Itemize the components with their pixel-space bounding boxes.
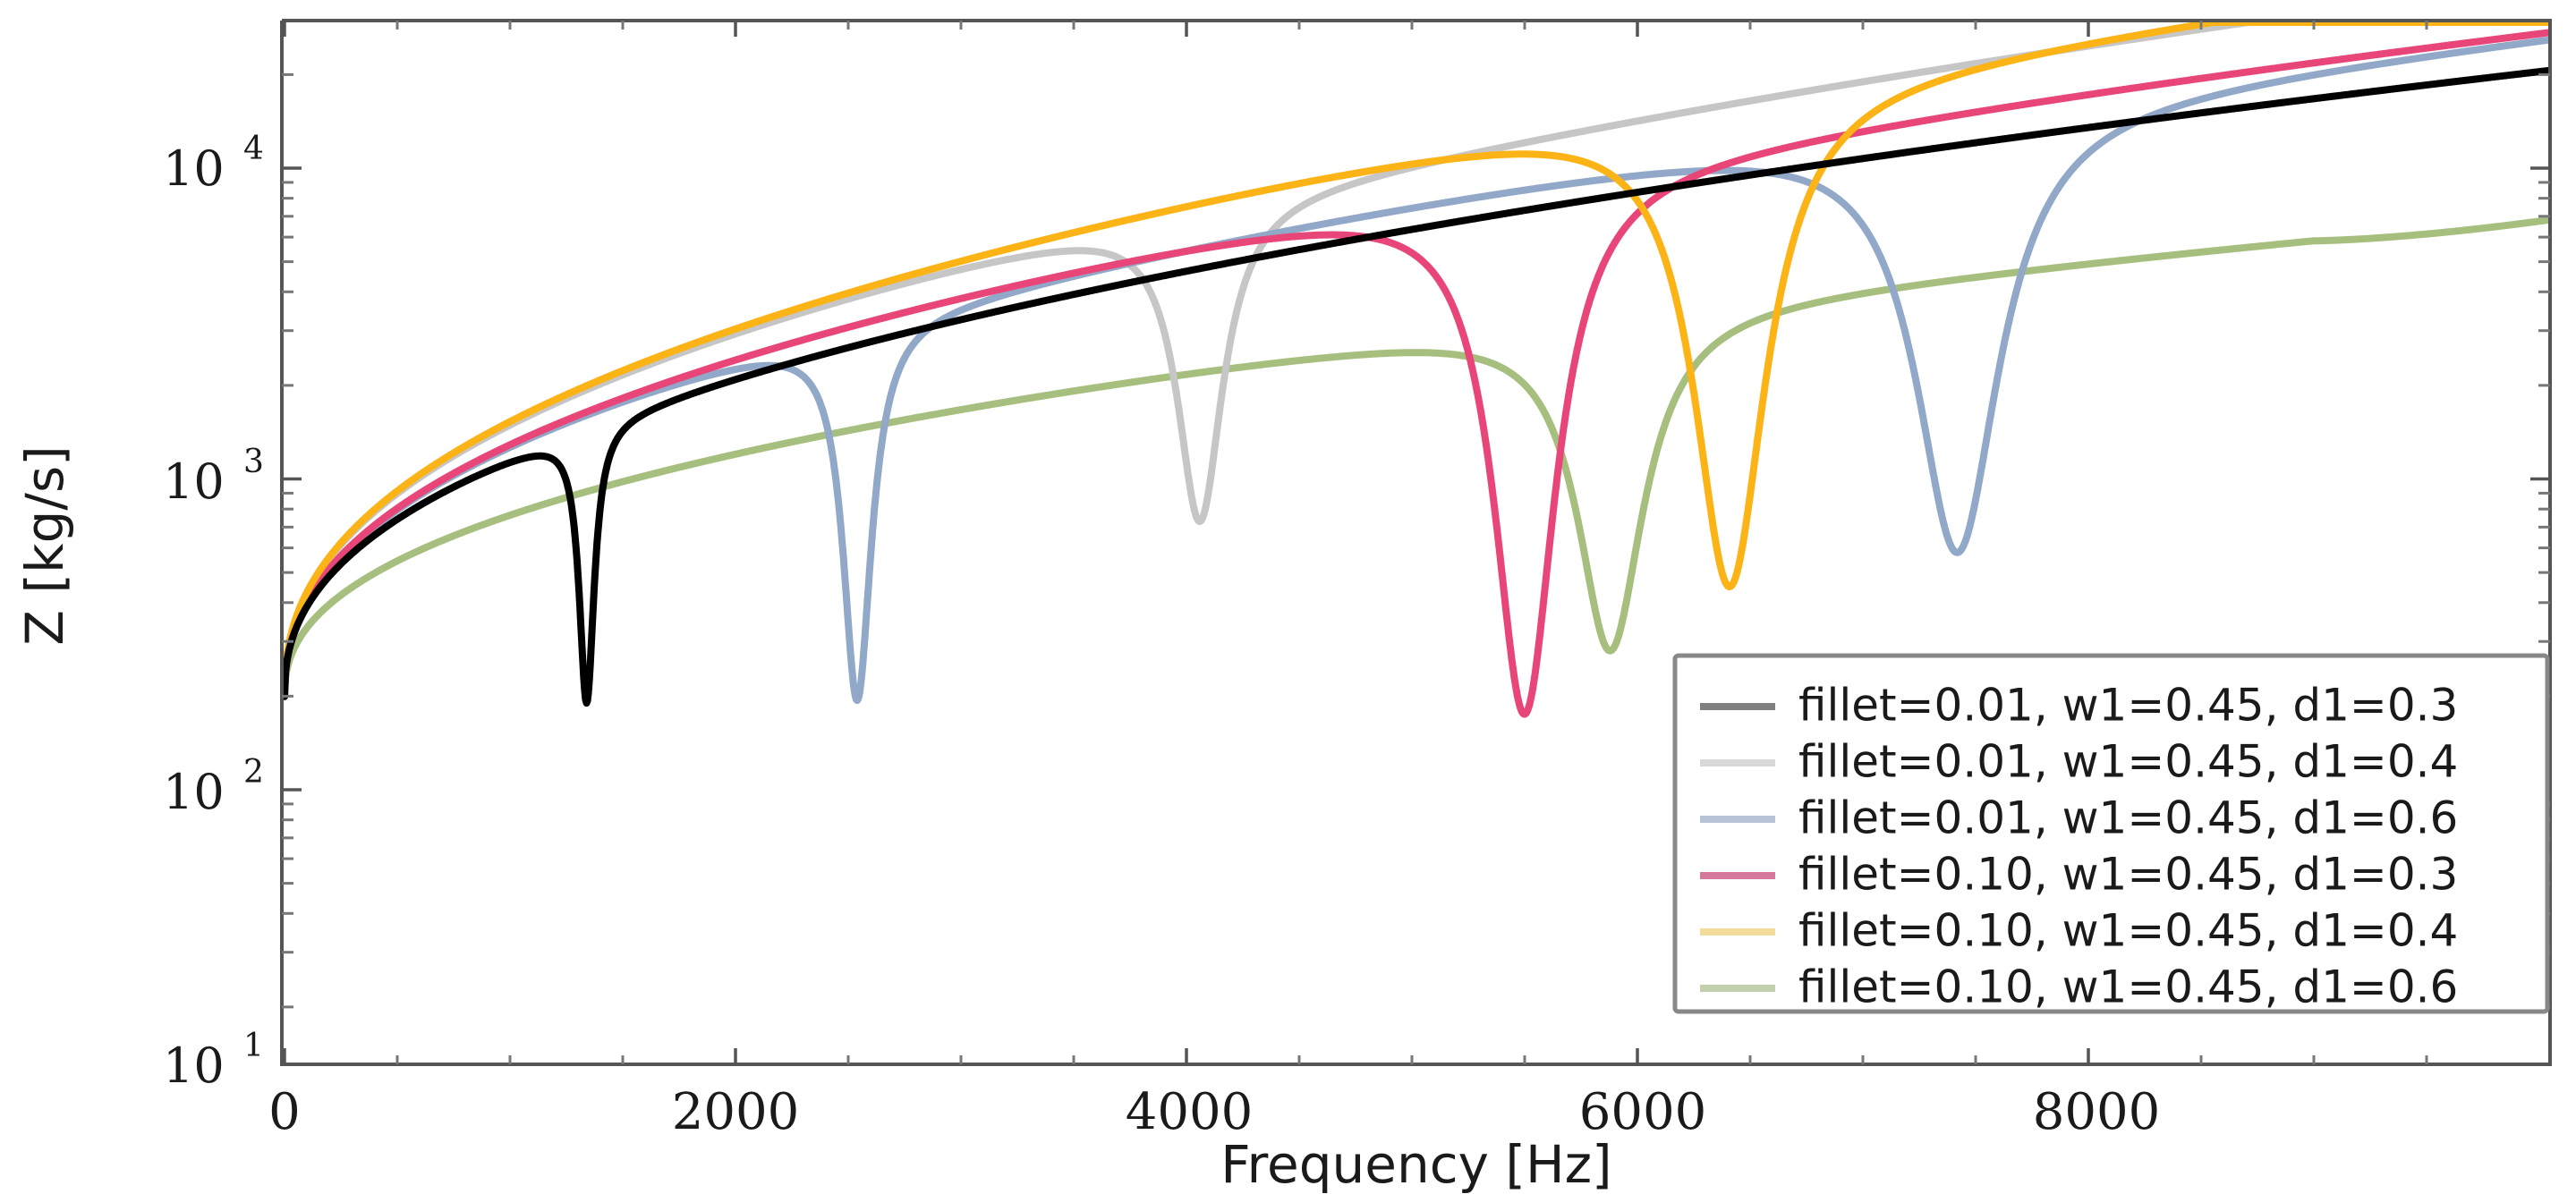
svg-text:4: 4 xyxy=(243,131,264,167)
x-tick-label-2000: 2000 xyxy=(672,1083,800,1141)
svg-text:10: 10 xyxy=(163,1037,225,1094)
svg-text:1: 1 xyxy=(243,1028,264,1064)
x-tick-label-4000: 4000 xyxy=(1126,1083,1254,1141)
legend-label-0: fillet=0.01, w1=0.45, d1=0.3 xyxy=(1798,680,2458,732)
x-tick-label-0: 0 xyxy=(268,1083,301,1141)
y-tick-labels: 10 4 10 3 10 2 10 1 xyxy=(163,131,264,1094)
legend-label-2: fillet=0.01, w1=0.45, d1=0.6 xyxy=(1798,792,2458,844)
svg-text:10: 10 xyxy=(163,764,225,820)
chart-figure: 10 4 10 3 10 2 10 1 0 2000 4000 6000 800… xyxy=(0,0,2576,1194)
chart-svg: 10 4 10 3 10 2 10 1 0 2000 4000 6000 800… xyxy=(0,0,2576,1194)
x-tick-labels: 0 2000 4000 6000 8000 xyxy=(268,1083,2160,1141)
y-axis-title: Z [kg/s] xyxy=(14,445,75,646)
legend: fillet=0.01, w1=0.45, d1=0.3fillet=0.01,… xyxy=(1675,656,2547,1013)
svg-text:3: 3 xyxy=(243,444,264,480)
x-axis-title: Frequency [Hz] xyxy=(1220,1134,1611,1194)
x-tick-label-8000: 8000 xyxy=(2033,1083,2161,1141)
y-tick-label-2: 10 2 xyxy=(163,754,264,820)
svg-text:10: 10 xyxy=(163,453,225,510)
legend-label-4: fillet=0.10, w1=0.45, d1=0.4 xyxy=(1798,905,2458,957)
y-tick-label-4: 10 4 xyxy=(163,131,264,197)
svg-text:2: 2 xyxy=(243,754,264,791)
y-tick-label-3: 10 3 xyxy=(163,444,264,510)
y-tick-label-1: 10 1 xyxy=(163,1028,264,1094)
x-tick-label-6000: 6000 xyxy=(1579,1083,1707,1141)
legend-label-3: fillet=0.10, w1=0.45, d1=0.3 xyxy=(1798,849,2458,901)
svg-text:10: 10 xyxy=(163,140,225,197)
legend-label-5: fillet=0.10, w1=0.45, d1=0.6 xyxy=(1798,961,2458,1013)
legend-label-1: fillet=0.01, w1=0.45, d1=0.4 xyxy=(1798,736,2458,788)
